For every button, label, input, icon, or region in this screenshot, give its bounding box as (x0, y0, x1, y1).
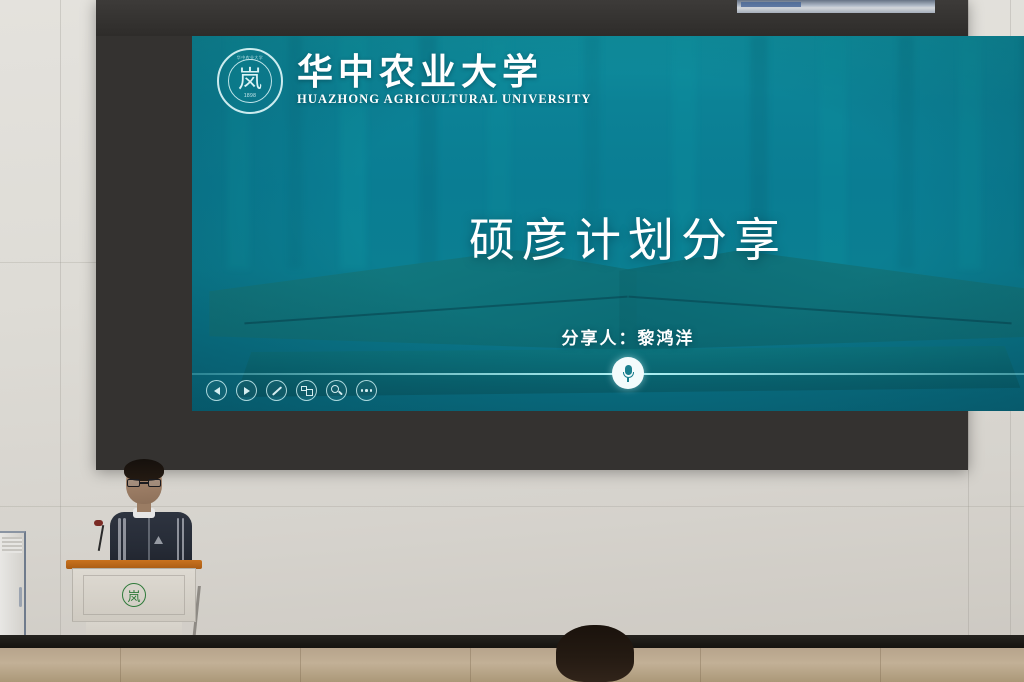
wall-baseboard (0, 635, 1024, 648)
grid-icon (301, 386, 313, 396)
slide-presenter-line: 分享人：黎鸿洋 (192, 324, 1024, 349)
presenter-person (108, 462, 194, 572)
air-conditioning-unit (0, 531, 26, 651)
slide-grid-button[interactable] (296, 380, 317, 401)
pen-tool-button[interactable] (266, 380, 287, 401)
presenter-glasses (127, 479, 161, 487)
podium-front-panel: 岚 (72, 568, 196, 622)
seal-year: 1898 (244, 93, 256, 99)
presenter-hair (124, 459, 164, 481)
podium-emblem-icon: 岚 (122, 583, 146, 607)
microphone-icon[interactable] (612, 357, 644, 389)
wall-seam (60, 0, 61, 682)
lecture-hall-scene: 华中农业大学 岚 1898 华中农业大学 HUAZHONG AGRICULTUR… (0, 0, 1024, 682)
vent-grille (2, 537, 22, 553)
cabinet-handle (19, 587, 22, 607)
microphone-arm (98, 525, 104, 551)
floor (0, 648, 1024, 682)
university-names: 华中农业大学 HUAZHONG AGRICULTURAL UNIVERSITY (297, 55, 592, 107)
magnifier-icon (331, 385, 343, 397)
presentation-slide[interactable]: 华中农业大学 岚 1898 华中农业大学 HUAZHONG AGRICULTUR… (192, 36, 1024, 411)
triangle-left-icon (214, 387, 220, 395)
audience-member-head (556, 625, 634, 682)
ellipsis-icon (361, 389, 373, 392)
seal-mark: 岚 (238, 67, 262, 91)
previous-slide-button[interactable] (206, 380, 227, 401)
triangle-right-icon (244, 387, 250, 395)
background-window-strip (737, 0, 935, 13)
university-name-en: HUAZHONG AGRICULTURAL UNIVERSITY (297, 92, 592, 107)
slide-title: 硕彦计划分享 (192, 204, 1024, 270)
slide-divider-line (192, 373, 1024, 375)
window-titlebar (741, 2, 801, 7)
slide-toolbar[interactable] (206, 380, 377, 401)
university-name-cn: 华中农业大学 (297, 55, 592, 91)
university-seal-icon: 华中农业大学 岚 1898 (217, 48, 283, 114)
projection-screen-panel: 华中农业大学 岚 1898 华中农业大学 HUAZHONG AGRICULTUR… (96, 0, 968, 470)
next-slide-button[interactable] (236, 380, 257, 401)
zoom-tool-button[interactable] (326, 380, 347, 401)
pen-icon (271, 386, 281, 395)
more-options-button[interactable] (356, 380, 377, 401)
university-branding: 华中农业大学 岚 1898 华中农业大学 HUAZHONG AGRICULTUR… (217, 48, 592, 114)
